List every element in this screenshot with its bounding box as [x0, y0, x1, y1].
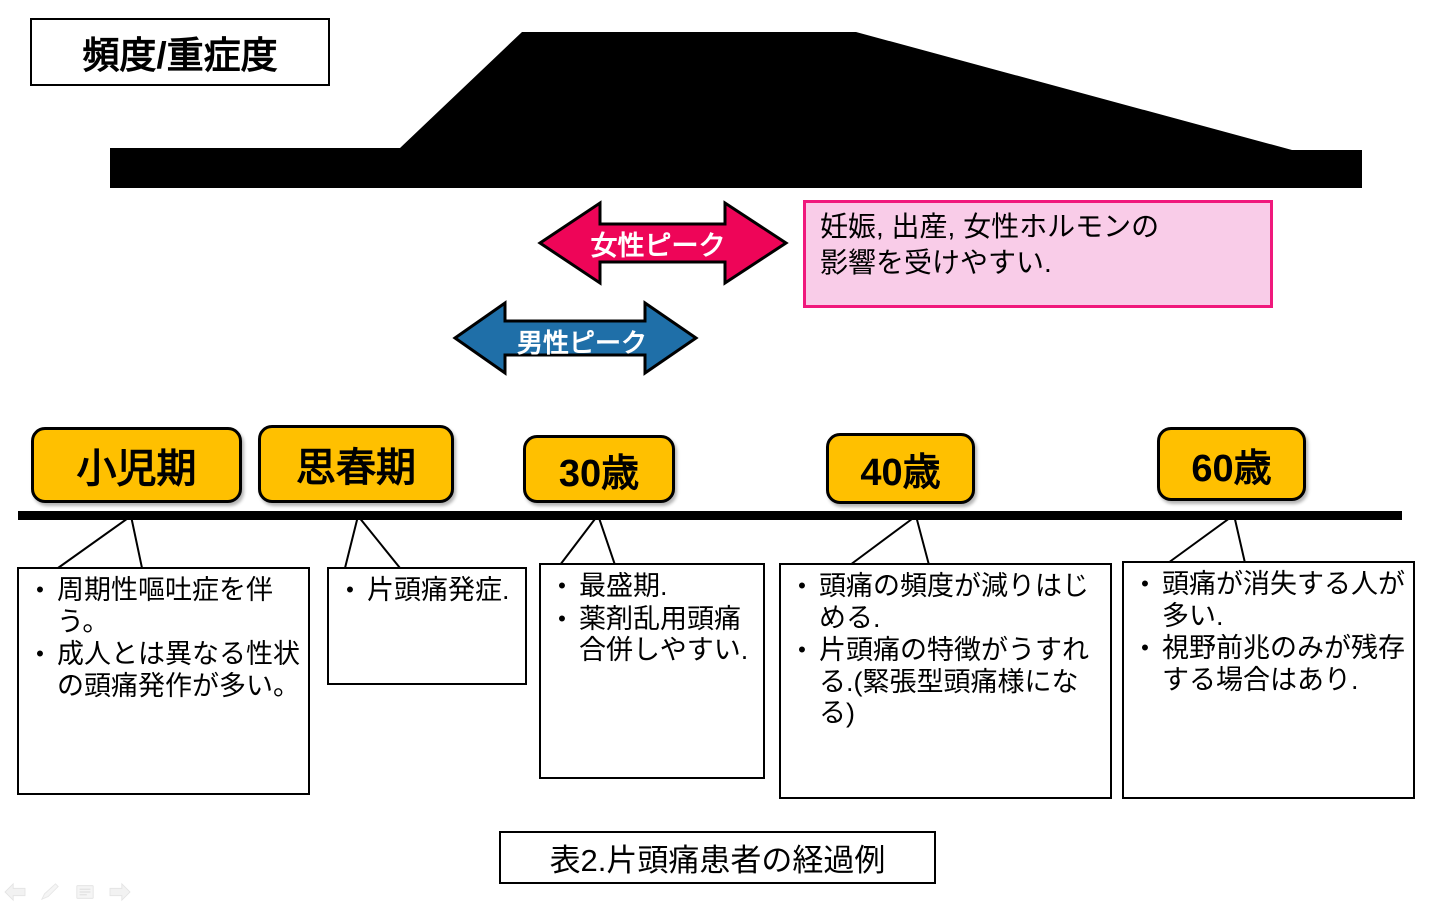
timeline-badge-label: 40歳	[860, 441, 940, 496]
timeline-badge-age60[interactable]: 60歳	[1157, 427, 1306, 501]
back-arrow-icon[interactable]	[4, 882, 26, 902]
notes-icon[interactable]	[74, 882, 96, 902]
timeline-badge-label: 小児期	[77, 436, 197, 494]
page-title-text: 頻度/重症度	[82, 25, 277, 79]
timeline-badge-childhood[interactable]: 小児期	[31, 427, 242, 503]
hormone-note-line-2: 影響を受けやすい.	[820, 245, 1258, 281]
slide-canvas: 頻度/重症度 女性ピーク 男性ピーク 妊娠, 出産, 女性ホルモンの 影響を受け…	[0, 0, 1438, 908]
timeline-badge-label: 思春期	[296, 435, 416, 493]
timeline-badge-age30[interactable]: 30歳	[523, 435, 675, 503]
timeline-badge-adolescence[interactable]: 思春期	[258, 425, 454, 503]
timeline-badge-label: 60歳	[1191, 437, 1271, 492]
forward-arrow-icon[interactable]	[109, 882, 131, 902]
timeline-badge-age40[interactable]: 40歳	[826, 433, 975, 504]
figure-caption: 表2.片頭痛患者の経過例	[499, 831, 936, 884]
page-title: 頻度/重症度	[30, 18, 330, 86]
hormone-note: 妊娠, 出産, 女性ホルモンの 影響を受けやすい.	[803, 200, 1273, 308]
hormone-note-line-1: 妊娠, 出産, 女性ホルモンの	[820, 209, 1258, 245]
figure-caption-text: 表2.片頭痛患者の経過例	[550, 835, 886, 880]
presentation-toolbar[interactable]	[4, 880, 134, 904]
female-peak-arrow-label: 女性ピーク	[558, 224, 758, 263]
timeline-badge-label: 30歳	[559, 442, 639, 497]
male-peak-arrow-label: 男性ピーク	[487, 323, 677, 360]
pen-icon[interactable]	[39, 882, 61, 902]
